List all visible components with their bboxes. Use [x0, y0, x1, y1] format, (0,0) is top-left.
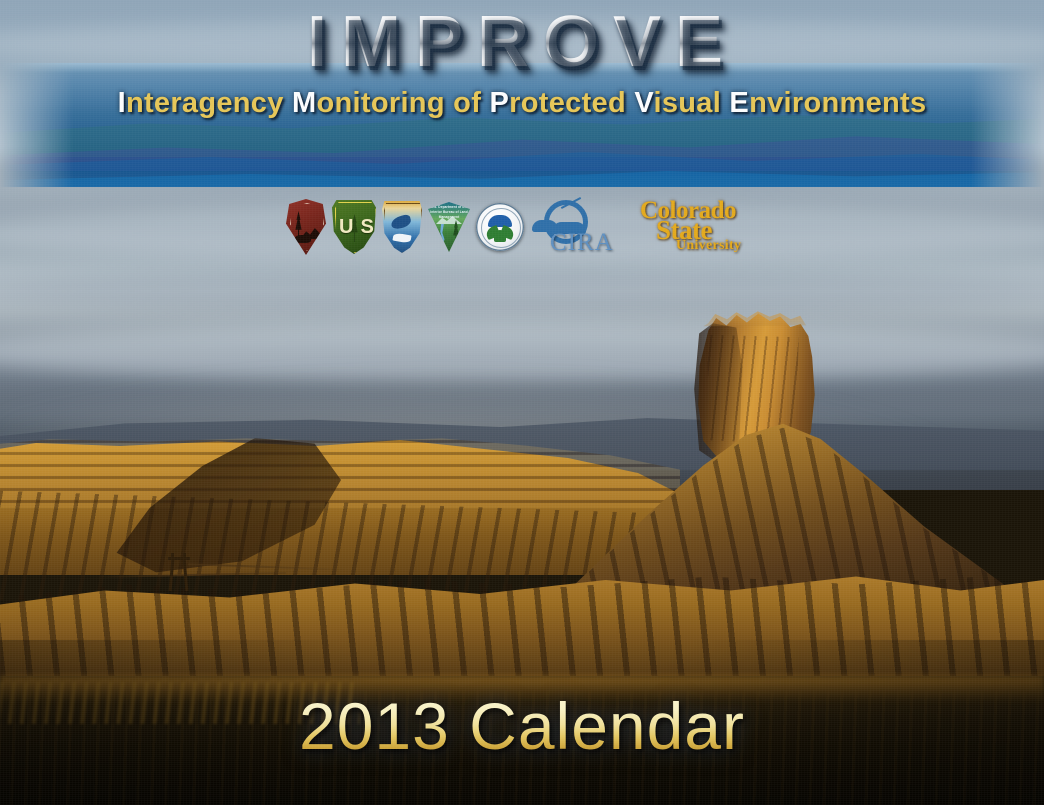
usfs-us-mark: US [332, 216, 376, 239]
calendar-year-title: 2013 Calendar [0, 693, 1044, 759]
nps-mountain-icon [300, 227, 324, 239]
blm-triangle-logo: U.S. Department of the Interior Bureau o… [428, 202, 470, 252]
cira-logo: CIRA [530, 198, 628, 256]
epa-dome-icon [488, 215, 512, 227]
blm-caption: U.S. Department of the Interior Bureau o… [428, 205, 470, 219]
improve-title: IMPROVE [0, 6, 1044, 78]
blm-river-icon [439, 224, 446, 246]
csu-line-university: University [676, 239, 741, 253]
calendar-cover: IMPROVE Interagency Monitoring of Protec… [0, 0, 1044, 805]
epa-leaf-icon [494, 230, 506, 242]
usfs-shield-logo: US [332, 200, 376, 254]
subtitle-capital: E [729, 87, 749, 119]
subtitle-capital: M [292, 87, 316, 119]
subtitle-text: nvironments [749, 87, 926, 119]
subtitle-capital: P [490, 87, 510, 119]
csu-wordmark-logo: Colorado State University [634, 196, 758, 258]
usfws-shield-logo [382, 201, 422, 253]
usfws-fish-icon [392, 232, 411, 243]
transmission-tower [168, 553, 190, 591]
cloud-band [0, 268, 1044, 314]
subtitle-capital: V [634, 87, 653, 119]
nps-bison-icon [295, 235, 311, 243]
cira-wordmark: CIRA [550, 230, 636, 255]
subtitle-text: onitoring of [317, 87, 490, 119]
subtitle-text: isual [653, 87, 729, 119]
nps-arrowhead-logo [286, 199, 326, 255]
subtitle-text: nteragency [126, 87, 292, 119]
improve-subtitle: Interagency Monitoring of Protected Visu… [0, 89, 1044, 118]
subtitle-capital: I [118, 87, 126, 119]
nps-sequoia-icon [294, 211, 303, 237]
usfws-duck-icon [390, 214, 412, 230]
subtitle-text: rotected [509, 87, 634, 119]
agency-logo-row: US U.S. Department of the Interior Burea… [0, 192, 1044, 262]
epa-seal-logo [476, 203, 524, 251]
